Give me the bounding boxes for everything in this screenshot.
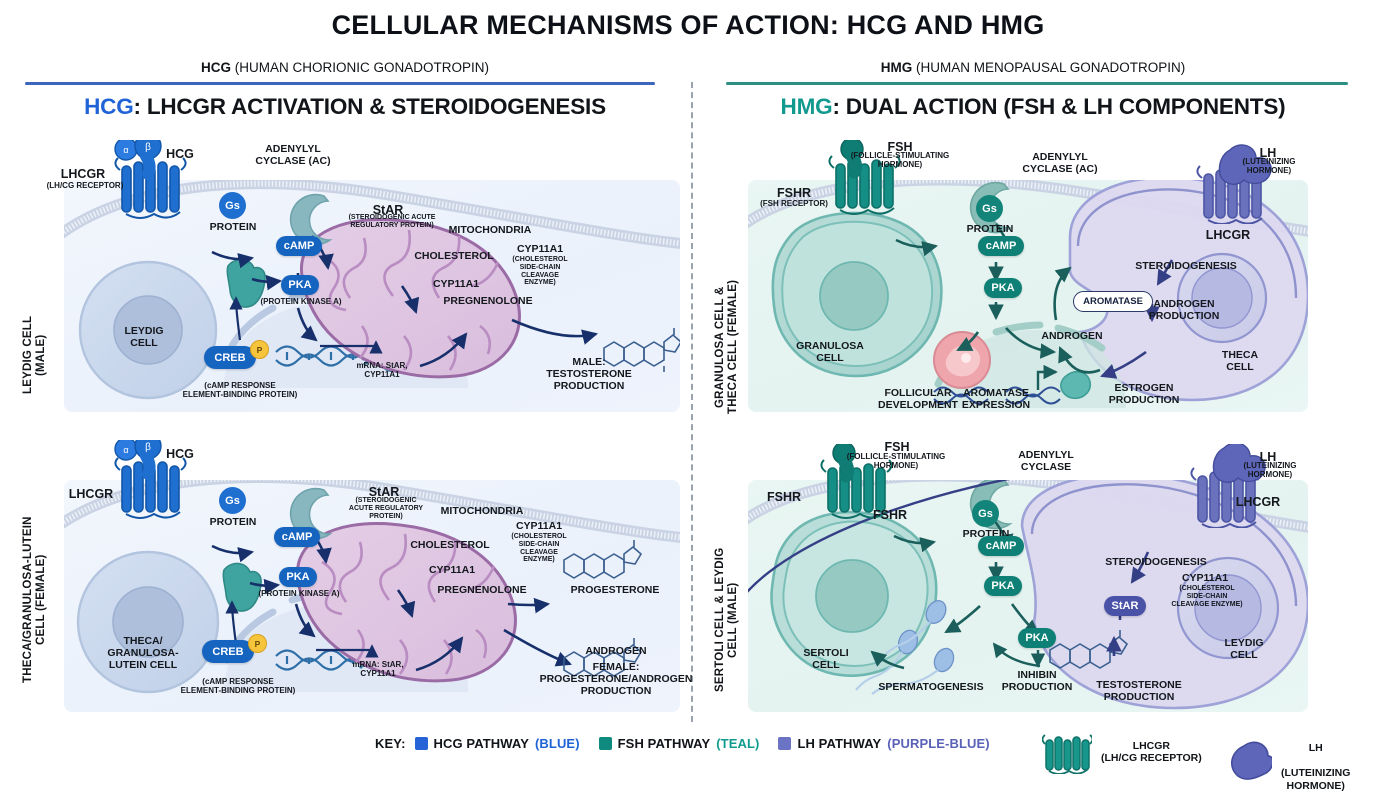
panel-tr-lhcgr-label: LHCGR	[1196, 228, 1260, 242]
legend-lhcgr-sub: (LH/CG RECEPTOR)	[1101, 752, 1202, 764]
panel-bl-gs: Gs	[219, 487, 246, 514]
panel-tr-follicular: FOLLICULAR DEVELOPMENT	[872, 388, 964, 412]
panel-br-fsh-sub: (FOLLICLE-STIMULATING HORMONE)	[836, 453, 956, 471]
panel-tr-theca-cell: THECA CELL	[1208, 350, 1272, 374]
panel-bl-hormone-label: HCG	[150, 447, 210, 461]
panel-bl-side-label: THECA/GRANULOSA-LUTEIN CELL (FEMALE)	[22, 510, 38, 690]
panel-br-lhcgr-label: LHCGR	[1226, 495, 1290, 509]
panel-tr-androgen: ANDROGEN	[1036, 331, 1108, 343]
panel-tl-mrna: mRNA: StAR, CYP11A1	[348, 362, 416, 380]
panel-br-lh-sub: (LUTEINIZING HORMONE)	[1234, 462, 1306, 480]
panel-br-side-label: SERTOLI CELL & LEYDIG CELL (MALE)	[714, 540, 744, 700]
subhead-left-tag: HCG	[84, 94, 133, 119]
legend-swatch-hcg	[415, 737, 428, 750]
panel-tr-side-label: GRANULOSA CELL & THECA CELL (FEMALE)	[714, 272, 744, 422]
legend-lh-name: LH	[1309, 742, 1323, 754]
column-right-expand: (HUMAN MENOPAUSAL GONADOTROPIN)	[916, 60, 1185, 75]
diagram-root: CELLULAR MECHANISMS OF ACTION: HCG AND H…	[0, 0, 1376, 768]
panel-br-steroidogenesis: STEROIDOGENESIS	[1098, 557, 1214, 569]
panel-tl-phospho-icon: P	[250, 340, 269, 359]
panel-br-fshr2-label: FSHR	[862, 508, 918, 522]
panel-br-cyp-sub: (CHOLESTEROL SIDE-CHAIN CLEAVAGE ENZYME)	[1154, 585, 1260, 608]
panel-tr-androgen-prod: ANDROGEN PRODUCTION	[1140, 299, 1228, 323]
panel-bl-cyp-sub: (CHOLESTEROL SIDE-CHAIN CLEAVAGE ENZYME)	[504, 533, 574, 564]
legend-lhcgr-name: LHCGR	[1133, 740, 1170, 752]
panel-br-leydig-cell: LEYDIG CELL	[1212, 638, 1276, 662]
panel-br-pka: PKA	[984, 576, 1022, 596]
panel-tr-steroidogenesis: STEROIDOGENESIS	[1128, 261, 1244, 273]
panel-bl-cell-name: THECA/ GRANULOSA- LUTEIN CELL	[88, 636, 198, 671]
panel-bl-pka-sub: (PROTEIN KINASE A)	[252, 590, 346, 599]
panel-tr-ac-label: ADENYLYL CYCLASE (AC)	[1008, 152, 1112, 176]
panel-tl-mito-label: MITOCHONDRIA	[444, 225, 536, 237]
column-header-right: HMG (HUMAN MENOPAUSAL GONADOTROPIN)	[690, 60, 1376, 75]
panel-br-gs: Gs	[972, 500, 999, 527]
panel-bl-cyp-arrow: CYP11A1	[424, 565, 480, 577]
panel-bl-camp: cAMP	[274, 527, 320, 547]
panel-tl-receptor-label: LHCGR	[48, 167, 118, 181]
column-left-expand: (HUMAN CHORIONIC GONADOTROPIN)	[235, 60, 489, 75]
panel-tl-pka-sub: (PROTEIN KINASE A)	[254, 298, 348, 307]
legend-swatch-lh	[778, 737, 791, 750]
panel-tr-estrogen: ESTROGEN PRODUCTION	[1098, 383, 1190, 407]
subhead-right-rest: : DUAL ACTION (FSH & LH COMPONENTS)	[832, 94, 1285, 119]
panel-tr-gs: Gs	[976, 195, 1003, 222]
subhead-left: HCG: LHCGR ACTIVATION & STEROIDOGENESIS	[0, 94, 690, 120]
panel-tr-fshr-label: FSHR	[766, 186, 822, 200]
panel-bl-output: FEMALE: PROGESTERONE/ANDROGEN PRODUCTION	[538, 662, 694, 697]
panel-tl-hormone-label: HCG	[150, 147, 210, 161]
panel-tl-star-sub: (STEROIDOGENIC ACUTE REGULATORY PROTEIN)	[340, 214, 444, 230]
panel-br-testosterone: TESTOSTERONE PRODUCTION	[1086, 680, 1192, 704]
legend-lhcgr-text: LHCGR (LH/CG RECEPTOR)	[1101, 740, 1202, 765]
legend-label-fsh: FSH PATHWAY	[618, 736, 711, 751]
panel-bl-receptor-label: LHCGR	[56, 487, 126, 501]
panel-bl-creb: CREB	[202, 640, 254, 663]
panel-br-fshr-label: FSHR	[756, 490, 812, 504]
hormone-icon	[1228, 740, 1272, 782]
panel-br-star: StAR	[1104, 596, 1146, 616]
legend-lh-text: LH (LUTEINIZING HORMONE)	[1281, 730, 1350, 792]
panel-tl-ac-label: ADENYLYL CYCLASE (AC)	[240, 144, 346, 168]
panel-tl-cell-name: LEYDIG CELL	[106, 326, 182, 350]
legend-key-row: KEY: HCG PATHWAY (BLUE) FSH PATHWAY (TEA…	[375, 736, 1000, 751]
panel-tl-cyp-arrow: CYP11A1	[428, 279, 484, 291]
column-header-left: HCG (HUMAN CHORIONIC GONADOTROPIN)	[0, 60, 690, 75]
panel-bl-progesterone: PROGESTERONE	[562, 585, 668, 597]
panel-tr-gs-sub: PROTEIN	[958, 224, 1022, 236]
page-title: CELLULAR MECHANISMS OF ACTION: HCG AND H…	[0, 10, 1376, 41]
legend-icon-lh: LH (LUTEINIZING HORMONE)	[1228, 730, 1350, 792]
panel-tl-pregnenolone: PREGNENOLONE	[442, 296, 534, 308]
panel-tl-gs-sub: PROTEIN	[201, 222, 265, 234]
svg-text:α: α	[123, 145, 128, 155]
panel-bl-creb-sub: (cAMP RESPONSE ELEMENT-BINDING PROTEIN)	[178, 678, 298, 696]
legend-swatch-fsh	[599, 737, 612, 750]
legend-paren-fsh: (TEAL)	[716, 736, 759, 751]
receptor-icon	[1042, 730, 1092, 774]
panel-tl-cyp-sub: (CHOLESTEROL SIDE-CHAIN CLEAVAGE ENZYME)	[506, 256, 574, 287]
panel-bl-cholesterol: CHOLESTEROL	[407, 540, 493, 552]
panel-tr-fsh-sub: (FOLLICLE-STIMULATING HORMONE)	[840, 152, 960, 170]
panel-tl-creb: CREB	[204, 346, 256, 369]
panel-tl-output: MALE: TESTOSTERONE PRODUCTION	[532, 357, 646, 392]
panel-br-ac-label: ADENYLYL CYCLASE	[1004, 450, 1088, 474]
subhead-right-tag: HMG	[781, 94, 833, 119]
panel-tl-creb-sub: (cAMP RESPONSE ELEMENT-BINDING PROTEIN)	[180, 382, 300, 400]
panel-tr-lh-sub: (LUTEINIZING HORMONE)	[1234, 158, 1304, 176]
panel-bl-gs-sub: PROTEIN	[201, 517, 265, 529]
panel-tr-pka: PKA	[984, 278, 1022, 298]
column-left-abbr: HCG	[201, 60, 231, 75]
panel-tr-fshr-sub: (FSH RECEPTOR)	[752, 200, 836, 209]
panel-tr-camp: cAMP	[978, 236, 1024, 256]
panel-tl-cyp-label: CYP11A1	[508, 244, 572, 256]
subhead-left-rest: : LHCGR ACTIVATION & STEROIDOGENESIS	[134, 94, 606, 119]
panel-br-camp: cAMP	[978, 536, 1024, 556]
legend-label-lh: LH PATHWAY	[797, 736, 881, 751]
panel-br-inhibin: INHIBIN PRODUCTION	[996, 670, 1078, 694]
panel-bl-cyp-label: CYP11A1	[506, 521, 572, 533]
panel-br-cell-name: SERTOLI CELL	[786, 648, 866, 672]
panel-tl-gs: Gs	[219, 192, 246, 219]
panel-bl-pka: PKA	[279, 567, 317, 587]
panel-bl-pregnenolone: PREGNENOLONE	[436, 585, 528, 597]
column-right-abbr: HMG	[881, 60, 913, 75]
panel-br-spermatogenesis: SPERMATOGENESIS	[868, 682, 994, 694]
panel-bl-mrna: mRNA: StAR, CYP11A1	[344, 661, 412, 679]
panel-tl-camp: cAMP	[276, 236, 322, 256]
legend-item-lh: LH PATHWAY (PURPLE-BLUE)	[778, 736, 989, 751]
legend-icon-lhcgr: LHCGR (LH/CG RECEPTOR)	[1042, 730, 1202, 774]
center-divider	[691, 82, 693, 722]
legend-lh-sub: (LUTEINIZING HORMONE)	[1281, 767, 1350, 791]
panel-br-pka2: PKA	[1018, 628, 1056, 648]
subhead-right: HMG: DUAL ACTION (FSH & LH COMPONENTS)	[690, 94, 1376, 120]
legend-label-hcg: HCG PATHWAY	[434, 736, 529, 751]
panel-br-cyp-label: CYP11A1	[1172, 573, 1238, 585]
svg-text:α: α	[123, 445, 128, 455]
legend-paren-lh: (PURPLE-BLUE)	[887, 736, 989, 751]
panel-tl-cholesterol: CHOLESTEROL	[411, 251, 497, 263]
legend-key-label: KEY:	[375, 736, 406, 751]
panel-bl-androgen: ANDROGEN	[578, 646, 654, 658]
panel-tr-cell-name: GRANULOSA CELL	[786, 341, 874, 365]
legend-paren-hcg: (BLUE)	[535, 736, 580, 751]
panel-tr-aromatase-expr: AROMATASE EXPRESSION	[952, 388, 1040, 412]
panel-bl-star-sub: (STEROIDOGENIC ACUTE REGULATORY PROTEIN)	[334, 497, 438, 520]
rule-left	[25, 82, 655, 85]
rule-right	[726, 82, 1348, 85]
panel-tl-receptor-sub: (LH/CG RECEPTOR)	[38, 182, 132, 191]
legend-item-fsh: FSH PATHWAY (TEAL)	[599, 736, 760, 751]
panel-bl-phospho-icon: P	[248, 634, 267, 653]
panel-tl-side-label: LEYDIG CELL (MALE)	[22, 300, 38, 410]
panel-tl-pka: PKA	[281, 275, 319, 295]
panel-bl-mito-label: MITOCHONDRIA	[436, 506, 528, 518]
legend-item-hcg: HCG PATHWAY (BLUE)	[415, 736, 580, 751]
